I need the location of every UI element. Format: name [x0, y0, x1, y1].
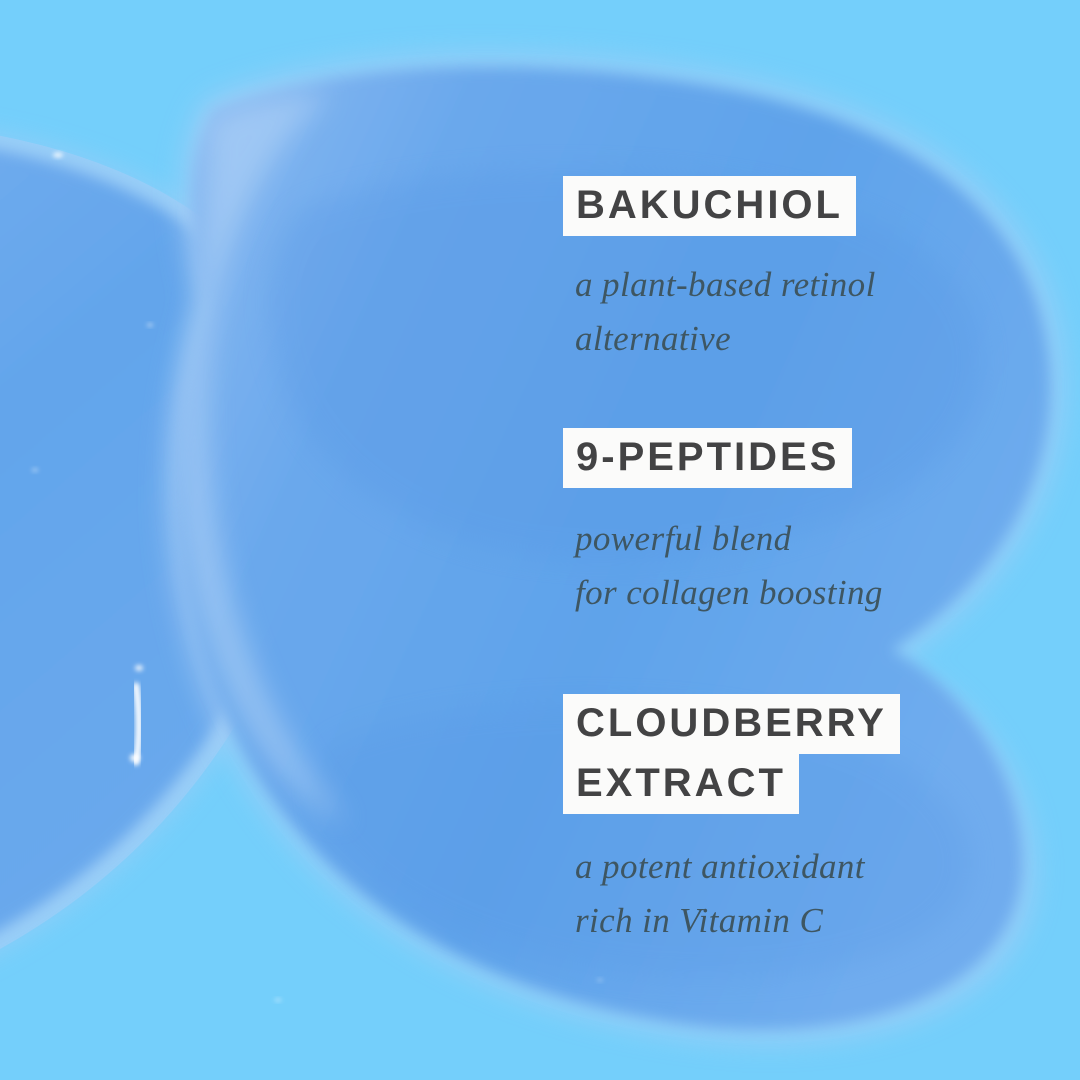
product-ingredient-graphic: BAKUCHIOL a plant-based retinol alternat… — [0, 0, 1080, 1080]
ingredient-heading: BAKUCHIOL — [563, 176, 1080, 236]
ingredient-heading-line: CLOUDBERRY — [563, 694, 900, 754]
ingredient-item-bakuchiol: BAKUCHIOL a plant-based retinol alternat… — [563, 176, 1080, 366]
ingredient-item-9-peptides: 9-PEPTIDES powerful blend for collagen b… — [563, 428, 1080, 620]
ingredient-list: BAKUCHIOL a plant-based retinol alternat… — [563, 0, 1080, 1080]
patch-highlight-dot — [275, 998, 282, 1002]
ingredient-heading-line: 9-PEPTIDES — [563, 428, 852, 488]
ingredient-heading: CLOUDBERRY — [563, 694, 1080, 754]
ingredient-heading-second: EXTRACT — [563, 754, 1080, 814]
patch-highlight-dot — [147, 323, 153, 327]
patch-highlight-dot — [32, 468, 39, 472]
ingredient-heading: 9-PEPTIDES — [563, 428, 1080, 488]
ingredient-description: a plant-based retinol alternative — [575, 258, 1080, 366]
ingredient-description: powerful blend for collagen boosting — [575, 512, 1080, 620]
ingredient-description: a potent antioxidant rich in Vitamin C — [575, 840, 1080, 948]
ingredient-heading-line: EXTRACT — [563, 754, 799, 814]
patch-highlight-dot — [53, 153, 63, 158]
ingredient-heading-line: BAKUCHIOL — [563, 176, 856, 236]
ingredient-item-cloudberry-extract: CLOUDBERRY EXTRACT a potent antioxidant … — [563, 694, 1080, 948]
